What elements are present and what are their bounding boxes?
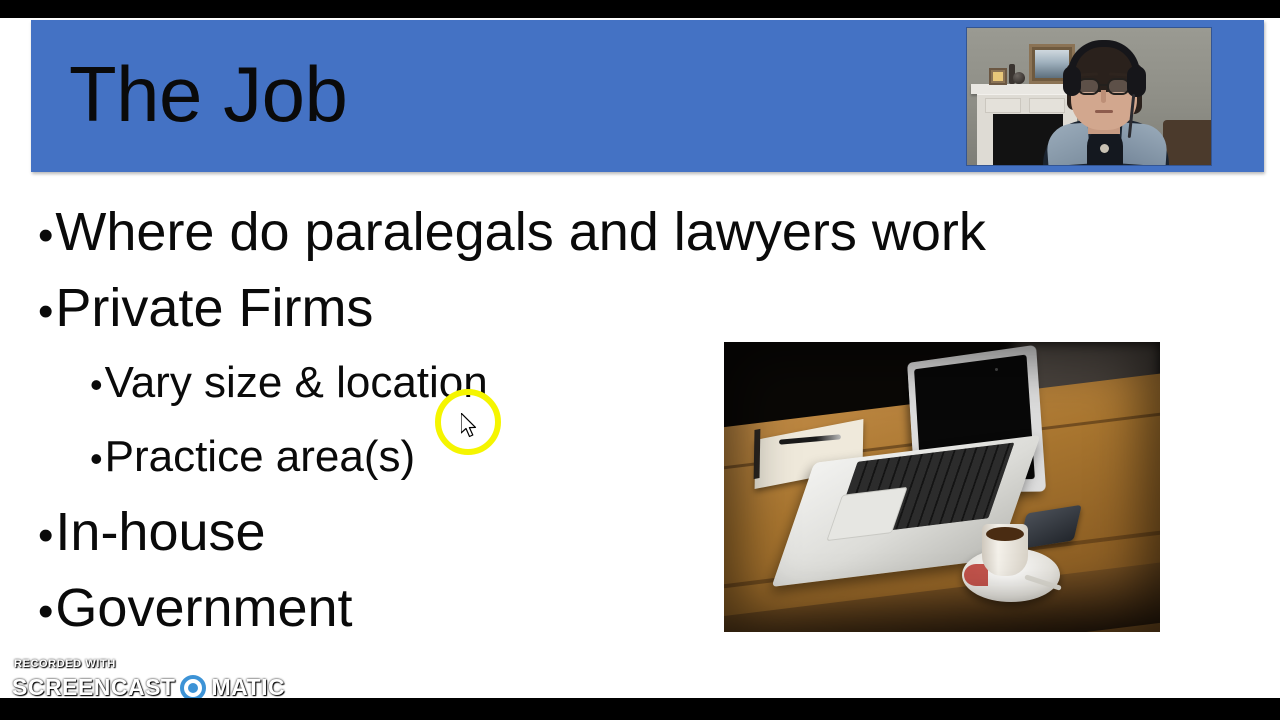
- page-title: The Job: [69, 50, 347, 138]
- webcam-headphone-earcup-right: [1127, 66, 1146, 97]
- bullet-icon: •: [38, 514, 53, 558]
- mouse-cursor-icon: [461, 413, 479, 439]
- webcam-presenter-glasses-bridge: [1099, 84, 1108, 86]
- slide-bullet-list: • Where do paralegals and lawyers work •…: [30, 194, 710, 646]
- video-player-screen: The Job: [0, 0, 1280, 720]
- letterbox-bar-top: [0, 0, 1280, 18]
- laptop-on-wooden-table-photo: [724, 342, 1160, 632]
- list-item-label: Private Firms: [55, 270, 373, 346]
- screencast-o-matic-watermark: RECORDED WITH SCREENCAST MATIC: [12, 658, 252, 698]
- webcam-mantel-photo-frame: [989, 68, 1007, 85]
- logo-center-dot: [188, 683, 198, 693]
- bullet-icon: •: [90, 441, 103, 477]
- webcam-chair: [1163, 120, 1211, 165]
- list-item-label: Where do paralegals and lawyers work: [55, 194, 985, 270]
- list-item: • Government: [30, 570, 710, 646]
- webcam-headphone-earcup-left: [1063, 66, 1081, 96]
- webcam-mantel-photo-image: [993, 72, 1003, 81]
- bullet-icon: •: [38, 590, 53, 634]
- bullet-icon: •: [90, 367, 103, 403]
- presentation-slide: The Job: [0, 18, 1280, 698]
- list-item-label: In-house: [55, 494, 265, 570]
- webcam-presenter-mouth: [1095, 110, 1113, 113]
- watermark-brand-right: MATIC: [211, 674, 285, 698]
- list-item: • Private Firms: [30, 270, 710, 346]
- watermark-brand-left: SCREENCAST: [12, 674, 175, 698]
- list-item: • Vary size & location: [30, 346, 710, 420]
- webcam-fireplace-panel-left: [985, 98, 1021, 113]
- webcam-presenter-necklace: [1100, 144, 1109, 153]
- webcam-presenter-nose: [1101, 90, 1106, 103]
- screencast-o-matic-logo-icon: [180, 675, 206, 699]
- list-item: • In-house: [30, 494, 710, 570]
- presenter-webcam-feed[interactable]: [967, 28, 1211, 165]
- webcam-mantel-ornament: [1013, 72, 1025, 84]
- list-item-label: Practice area(s): [105, 420, 416, 494]
- watermark-recorded-with-label: RECORDED WITH: [14, 658, 116, 670]
- list-item: • Practice area(s): [30, 420, 710, 494]
- list-item-label: Vary size & location: [105, 346, 488, 420]
- list-item-label: Government: [55, 570, 352, 646]
- watermark-brand-row: SCREENCAST MATIC: [12, 674, 285, 698]
- letterbox-bar-bottom: [0, 698, 1280, 720]
- bullet-icon: •: [38, 290, 53, 334]
- photo-vignette: [724, 342, 1160, 632]
- list-item: • Where do paralegals and lawyers work: [30, 194, 710, 270]
- bullet-icon: •: [38, 214, 53, 258]
- webcam-fireplace-panel-right: [1029, 98, 1065, 113]
